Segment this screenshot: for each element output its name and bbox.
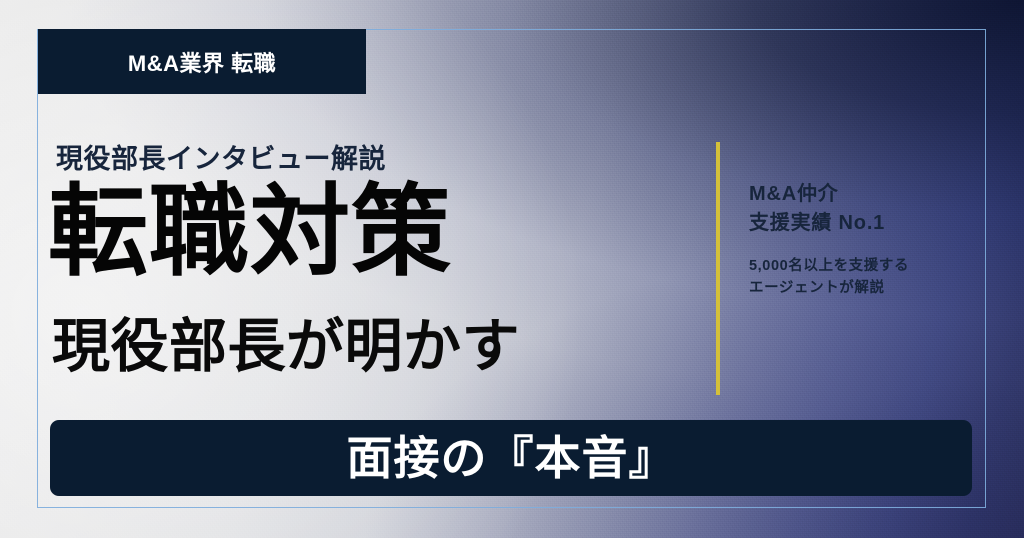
proof-line-1: M&A仲介 [749, 180, 979, 209]
eyebrow-text: 現役部長インタビュー解説 [56, 137, 386, 176]
category-badge-label: M&A業界 転職 [128, 46, 276, 78]
proof-note-1: 5,000名以上を支援する [749, 256, 979, 278]
proof-block: M&A仲介 支援実績 No.1 5,000名以上を支援する エージェントが解説 [749, 180, 979, 300]
thumbnail-canvas: M&A業界 転職 現役部長インタビュー解説 転職対策 現役部長が明かす M&A仲… [0, 0, 1024, 538]
proof-line-2: 支援実績 No.1 [749, 209, 979, 238]
category-badge: M&A業界 転職 [38, 29, 366, 94]
secondary-headline: 現役部長が明かす [52, 318, 520, 376]
yellow-accent-rule [716, 142, 720, 395]
bottom-banner: 面接の『本音』 [50, 420, 972, 496]
main-headline: 転職対策 [48, 182, 452, 282]
proof-note-2: エージェントが解説 [749, 278, 979, 300]
bottom-banner-label: 面接の『本音』 [347, 435, 676, 481]
